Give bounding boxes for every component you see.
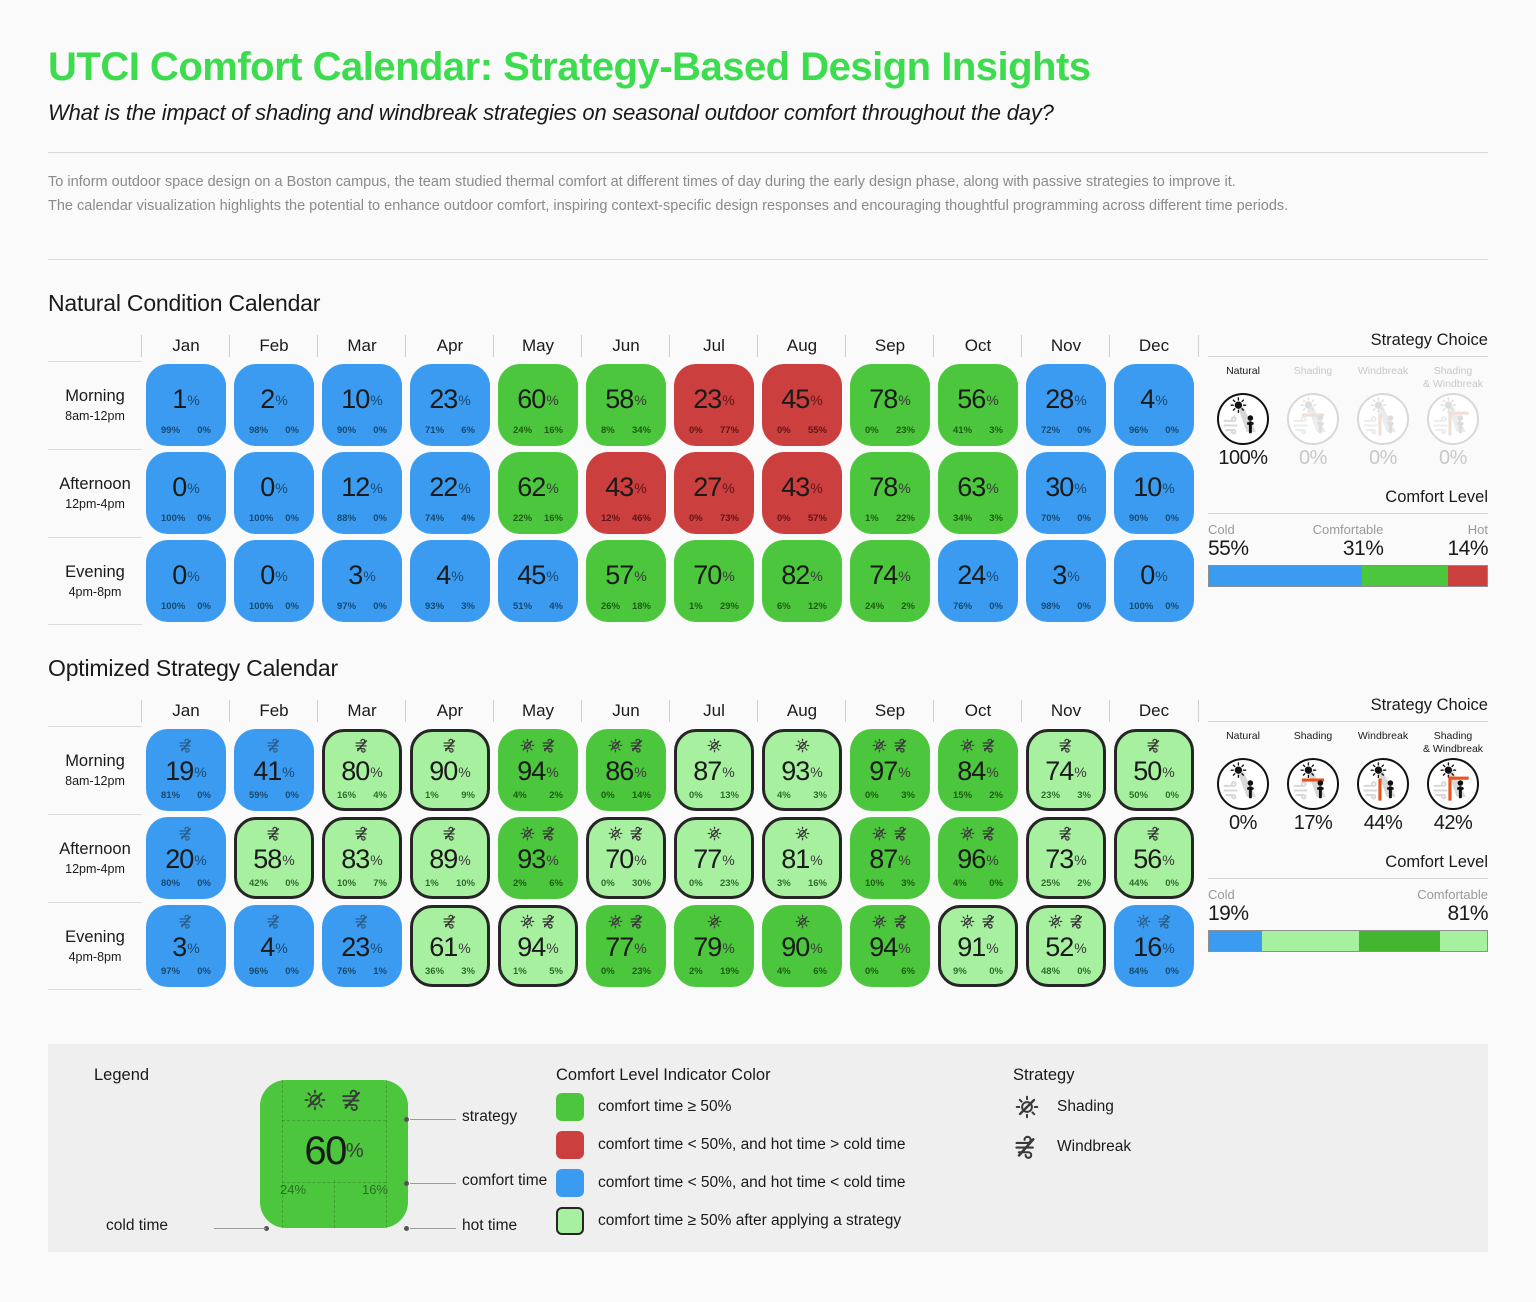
cell-cold-time: 2% [689, 966, 703, 977]
calendar-cell[interactable]: 94%0%6% [850, 905, 930, 987]
strategy-scene-icon [1289, 760, 1337, 808]
cell-hot-time: 16% [544, 425, 563, 436]
cell-percent-sign: % [898, 765, 910, 779]
cell-hot-time: 3% [1077, 790, 1091, 801]
page-title: UTCI Comfort Calendar: Strategy-Based De… [48, 0, 1488, 90]
comfort-bar-segment [1362, 566, 1448, 586]
calendar-cell[interactable]: 10%90%0% [1114, 452, 1194, 534]
calendar-cell[interactable]: 0%100%0% [146, 540, 226, 622]
windbreak-icon [266, 913, 283, 930]
calendar-cell[interactable]: 83%10%7% [322, 817, 402, 899]
cell-hot-time: 29% [720, 601, 739, 612]
comfort-segment-value: 31% [1313, 537, 1384, 561]
calendar-cell[interactable]: 23%71%6% [410, 364, 490, 446]
comfort-level-rule [1208, 513, 1488, 514]
comfort-level-values: Cold19%Comfortable81% [1208, 887, 1488, 926]
cell-percent-sign: % [370, 941, 382, 955]
shading-icon [706, 913, 723, 930]
calendar-cell[interactable]: 4%96%0% [234, 905, 314, 987]
calendar-row-evening: Evening4pm-8pm3%97%0%4%96%0%23%76%1%61%3… [48, 902, 1198, 990]
cell-strategy-icons [519, 913, 558, 930]
calendar-cell[interactable]: 0%100%0% [234, 452, 314, 534]
windbreak-icon [442, 825, 459, 842]
calendar-cell[interactable]: 3%97%0% [322, 540, 402, 622]
cell-strategy-icons [266, 825, 283, 842]
cell-comfort-value: 87% [693, 754, 735, 790]
calendar-cell[interactable]: 23%76%1% [322, 905, 402, 987]
cell-container: 94%1%5% [494, 902, 582, 990]
calendar-cell[interactable]: 57%26%18% [586, 540, 666, 622]
cell-comfort-value: 43% [781, 455, 823, 513]
comfort-segment-value: 55% [1208, 537, 1249, 561]
cell-footer: 25%2% [1029, 878, 1103, 896]
month-header-row: JanFebMarAprMayJunJulAugSepOctNovDec [48, 696, 1198, 726]
calendar-cell[interactable]: 23%0%77% [674, 364, 754, 446]
cell-cold-time: 100% [161, 513, 185, 524]
calendar-cell[interactable]: 82%6%12% [762, 540, 842, 622]
row-label-evening: Evening4pm-8pm [48, 537, 142, 625]
cell-strategy-icons [519, 737, 558, 754]
cell-footer: 80%0% [149, 878, 223, 896]
cell-container: 0%100%0% [142, 537, 230, 625]
calendar-cell[interactable]: 3%98%0% [1026, 540, 1106, 622]
calendar-cell[interactable]: 89%1%10% [410, 817, 490, 899]
cell-container: 52%48%0% [1022, 902, 1110, 990]
cell-percent-sign: % [1074, 393, 1086, 407]
cell-cold-time: 42% [249, 878, 268, 889]
cell-cold-time: 74% [425, 513, 444, 524]
calendar-cell[interactable]: 94%4%2% [498, 729, 578, 811]
calendar-cell[interactable]: 45%51%4% [498, 540, 578, 622]
cell-footer: 3%16% [765, 878, 839, 896]
cell-footer: 44%0% [1117, 878, 1191, 896]
strategy-option-icon [1217, 393, 1269, 445]
shading-icon [519, 825, 536, 842]
calendar-cell[interactable]: 93%2%6% [498, 817, 578, 899]
windbreak-icon [629, 825, 646, 842]
calendar-cell[interactable]: 16%84%0% [1114, 905, 1194, 987]
calendar-cell[interactable]: 45%0%55% [762, 364, 842, 446]
month-label-aug: Aug [758, 696, 846, 726]
calendar-cell[interactable]: 73%25%2% [1026, 817, 1106, 899]
calendar-cell[interactable]: 27%0%73% [674, 452, 754, 534]
cell-hot-time: 19% [720, 966, 739, 977]
cell-hot-time: 3% [813, 790, 827, 801]
calendar-cell[interactable]: 90%4%6% [762, 905, 842, 987]
cell-container: 77%0%23% [670, 814, 758, 902]
cell-cold-time: 0% [689, 790, 703, 801]
cell-cold-time: 1% [425, 878, 439, 889]
legend-strategy-heading: Strategy [1013, 1066, 1303, 1085]
cell-percent-sign: % [451, 569, 463, 583]
calendar-cell[interactable]: 84%15%2% [938, 729, 1018, 811]
calendar-panels: Natural Condition CalendarJanFebMarAprMa… [48, 290, 1488, 990]
calendar-cell[interactable]: 43%12%46% [586, 452, 666, 534]
cell-footer: 6%12% [765, 601, 839, 619]
legend-strategy-text: Windbreak [1057, 1138, 1131, 1156]
calendar-cell[interactable]: 74%23%3% [1026, 729, 1106, 811]
cell-hot-time: 0% [1165, 966, 1179, 977]
strategy-option-natural[interactable]: Natural100% [1208, 365, 1278, 470]
calendar-row-afternoon: Afternoon12pm-4pm0%100%0%0%100%0%12%88%0… [48, 449, 1198, 537]
calendar-cell[interactable]: 96%4%0% [938, 817, 1018, 899]
calendar-cell[interactable]: 2%98%0% [234, 364, 314, 446]
cell-comfort-value: 70% [693, 543, 735, 601]
cell-container: 70%0%30% [582, 814, 670, 902]
windbreak-icon [354, 737, 371, 754]
cell-hot-time: 0% [197, 513, 211, 524]
cell-hot-time: 23% [896, 425, 915, 436]
cell-strategy-icons [871, 825, 910, 842]
calendar-cell[interactable]: 50%50%0% [1114, 729, 1194, 811]
cell-comfort-value: 91% [957, 930, 999, 966]
cell-container: 90%1%9% [406, 726, 494, 814]
cell-cold-time: 96% [249, 966, 268, 977]
windbreak-icon [981, 737, 998, 754]
cell-comfort-value: 58% [253, 842, 295, 878]
calendar-cell[interactable]: 4%96%0% [1114, 364, 1194, 446]
calendar-cell[interactable]: 91%9%0% [938, 905, 1018, 987]
legend-sample-cell: 60% 24% 16% [260, 1080, 408, 1228]
cell-container: 3%97%0% [318, 537, 406, 625]
strategy-scene-icon [1219, 760, 1267, 808]
calendar-cell[interactable]: 10%90%0% [322, 364, 402, 446]
strategy-option-both[interactable]: Shading& Windbreak0% [1418, 365, 1488, 470]
cell-hot-time: 55% [808, 425, 827, 436]
strategy-option-windbreak[interactable]: Windbreak44% [1348, 730, 1418, 835]
cell-cold-time: 22% [513, 513, 532, 524]
row-cells: 3%97%0%4%96%0%23%76%1%61%36%3%94%1%5%77%… [142, 902, 1198, 990]
calendar-cell[interactable]: 78%0%23% [850, 364, 930, 446]
calendar-cell[interactable]: 61%36%3% [410, 905, 490, 987]
cell-container: 70%1%29% [670, 537, 758, 625]
calendar-section-optimized: Optimized Strategy CalendarJanFebMarAprM… [48, 655, 1488, 990]
legend-color-item: comfort time < 50%, and hot time > cold … [556, 1131, 1003, 1159]
calendar-side-panel: Strategy ChoiceNatural100%Shading0%Windb… [1198, 331, 1488, 587]
cell-cold-time: 41% [953, 425, 972, 436]
calendar-cell[interactable]: 80%16%4% [322, 729, 402, 811]
cell-footer: 98%0% [1029, 601, 1103, 619]
comfort-level-title: Comfort Level [1208, 853, 1488, 872]
shading-icon [871, 737, 888, 754]
calendar-cell[interactable]: 93%4%3% [762, 729, 842, 811]
cell-percent-sign: % [722, 481, 734, 495]
cell-hot-time: 3% [461, 966, 475, 977]
shading-icon [871, 825, 888, 842]
cell-cold-time: 4% [777, 966, 791, 977]
strategy-option-shading[interactable]: Shading17% [1278, 730, 1348, 835]
calendar-cell[interactable]: 86%0%14% [586, 729, 666, 811]
calendar-cell[interactable]: 78%1%22% [850, 452, 930, 534]
calendar-cell[interactable]: 62%22%16% [498, 452, 578, 534]
cell-container: 10%90%0% [318, 361, 406, 449]
cell-comfort-value: 3% [172, 930, 199, 966]
calendar-cell[interactable]: 70%1%29% [674, 540, 754, 622]
cell-footer: 76%1% [325, 966, 399, 984]
cell-cold-time: 100% [249, 513, 273, 524]
cell-footer: 0%77% [677, 425, 751, 443]
cell-percent-sign: % [1074, 853, 1086, 867]
calendar-cell[interactable]: 1%99%0% [146, 364, 226, 446]
strategy-option-both[interactable]: Shading& Windbreak42% [1418, 730, 1488, 835]
cell-hot-time: 0% [1077, 601, 1091, 612]
callout-comfort-time: comfort time [462, 1172, 547, 1190]
cell-percent-sign: % [898, 569, 910, 583]
calendar-cell[interactable]: 43%0%57% [762, 452, 842, 534]
windbreak-icon [893, 737, 910, 754]
cell-comfort-value: 24% [957, 543, 999, 601]
strategy-option-label: Natural [1208, 365, 1278, 391]
cell-hot-time: 10% [456, 878, 475, 889]
shading-icon [302, 1087, 328, 1113]
calendar-cell[interactable]: 30%70%0% [1026, 452, 1106, 534]
cell-hot-time: 34% [632, 425, 651, 436]
cell-container: 86%0%14% [582, 726, 670, 814]
calendar-cell[interactable]: 3%97%0% [146, 905, 226, 987]
calendar-cell[interactable]: 22%74%4% [410, 452, 490, 534]
calendar-row-evening: Evening4pm-8pm0%100%0%0%100%0%3%97%0%4%9… [48, 537, 1198, 625]
cell-strategy-icons [1058, 825, 1075, 842]
cell-cold-time: 97% [161, 966, 180, 977]
calendar-cell[interactable]: 87%10%3% [850, 817, 930, 899]
cell-hot-time: 4% [373, 790, 387, 801]
cell-strategy-icons [794, 913, 811, 930]
cell-comfort-value: 19% [165, 754, 207, 790]
cell-cold-time: 51% [513, 601, 532, 612]
comfort-segment-label: Hot [1447, 522, 1488, 537]
calendar-cell[interactable]: 24%76%0% [938, 540, 1018, 622]
intro-line-1: To inform outdoor space design on a Bost… [48, 171, 1488, 195]
row-label-morning: Morning8am-12pm [48, 726, 142, 814]
windbreak-icon [442, 913, 459, 930]
windbreak-icon [266, 825, 283, 842]
cell-cold-time: 76% [337, 966, 356, 977]
cell-hot-time: 0% [197, 601, 211, 612]
strategy-option-value: 0% [1278, 447, 1348, 470]
intro-line-2: The calendar visualization highlights th… [48, 195, 1488, 219]
cell-cold-time: 24% [513, 425, 532, 436]
cell-footer: 26%18% [589, 601, 663, 619]
comfort-segment-label: Cold [1208, 887, 1249, 902]
calendar-cell[interactable]: 74%24%2% [850, 540, 930, 622]
legend-color-item: comfort time < 50%, and hot time < cold … [556, 1169, 1003, 1197]
cell-footer: 59%0% [237, 790, 311, 808]
cell-cold-time: 84% [1129, 966, 1148, 977]
calendar-cell[interactable]: 20%80%0% [146, 817, 226, 899]
legend-color-column: Comfort Level Indicator Color comfort ti… [548, 1044, 1003, 1245]
cell-hot-time: 3% [989, 513, 1003, 524]
cell-footer: 10%3% [853, 878, 927, 896]
month-label-jul: Jul [670, 696, 758, 726]
callout-line-comfort [410, 1183, 456, 1184]
cell-cold-time: 1% [425, 790, 439, 801]
calendar-cell[interactable]: 56%41%3% [938, 364, 1018, 446]
cell-hot-time: 0% [197, 425, 211, 436]
cell-footer: 12%46% [589, 513, 663, 531]
comfort-segment-cold: Cold19% [1208, 887, 1249, 926]
windbreak-icon [541, 825, 558, 842]
comfort-segment-value: 14% [1447, 537, 1488, 561]
cell-comfort-value: 97% [869, 754, 911, 790]
calendar-cell[interactable]: 97%0%3% [850, 729, 930, 811]
cell-container: 56%44%0% [1110, 814, 1198, 902]
legend-color-text: comfort time ≥ 50% after applying a stra… [598, 1212, 901, 1230]
calendar-cell[interactable]: 58%8%34% [586, 364, 666, 446]
cell-percent-sign: % [986, 765, 998, 779]
comfort-level-rule [1208, 878, 1488, 879]
calendar-cell[interactable]: 0%100%0% [146, 452, 226, 534]
strategy-option-natural[interactable]: Natural0% [1208, 730, 1278, 835]
legend-sample-percent: % [346, 1140, 364, 1163]
calendar-cell[interactable]: 52%48%0% [1026, 905, 1106, 987]
cell-percent-sign: % [546, 393, 558, 407]
strategy-option-shading[interactable]: Shading0% [1278, 365, 1348, 470]
calendar-cell[interactable]: 87%0%13% [674, 729, 754, 811]
calendar-cell[interactable]: 81%3%16% [762, 817, 842, 899]
calendar-cell[interactable]: 4%93%3% [410, 540, 490, 622]
cell-container: 74%23%3% [1022, 726, 1110, 814]
cell-percent-sign: % [722, 941, 734, 955]
cell-container: 89%1%10% [406, 814, 494, 902]
cell-hot-time: 0% [1165, 425, 1179, 436]
comfort-segment-cold: Cold55% [1208, 522, 1249, 561]
cell-container: 28%72%0% [1022, 361, 1110, 449]
calendar-cell[interactable]: 12%88%0% [322, 452, 402, 534]
cell-comfort-value: 23% [693, 367, 735, 425]
strategy-option-label: Shading [1278, 365, 1348, 391]
cell-cold-time: 0% [865, 425, 879, 436]
cell-strategy-icons [959, 825, 998, 842]
month-label-jan: Jan [142, 696, 230, 726]
cell-comfort-value: 77% [605, 930, 647, 966]
strategy-option-icon [1287, 393, 1339, 445]
cell-cold-time: 98% [249, 425, 268, 436]
cell-hot-time: 3% [989, 425, 1003, 436]
calendar-cell[interactable]: 94%1%5% [498, 905, 578, 987]
cell-footer: 2%19% [677, 966, 751, 984]
cell-footer: 0%13% [677, 790, 751, 808]
shading-icon [607, 825, 624, 842]
cell-strategy-icons [1146, 825, 1163, 842]
cell-cold-time: 90% [337, 425, 356, 436]
cell-comfort-value: 23% [429, 367, 471, 425]
cell-hot-time: 0% [1165, 601, 1179, 612]
cell-footer: 22%16% [501, 513, 575, 531]
cell-percent-sign: % [194, 853, 206, 867]
strategy-option-icon [1217, 758, 1269, 810]
calendar-cell[interactable]: 28%72%0% [1026, 364, 1106, 446]
cell-comfort-value: 20% [165, 842, 207, 878]
cell-strategy-icons [706, 737, 723, 754]
row-label-name: Morning [65, 752, 125, 771]
cell-percent-sign: % [898, 481, 910, 495]
strategy-scene-icon [1429, 760, 1477, 808]
strategy-option-windbreak[interactable]: Windbreak0% [1348, 365, 1418, 470]
legend-color-heading: Comfort Level Indicator Color [556, 1066, 1003, 1085]
shading-icon [519, 913, 536, 930]
legend-sample-hot: 16% [362, 1182, 388, 1197]
calendar-cell[interactable]: 0%100%0% [234, 540, 314, 622]
cell-container: 58%42%0% [230, 814, 318, 902]
cell-hot-time: 0% [989, 601, 1003, 612]
cell-container: 50%50%0% [1110, 726, 1198, 814]
month-labels: JanFebMarAprMayJunJulAugSepOctNovDec [142, 331, 1198, 361]
cell-hot-time: 2% [549, 790, 563, 801]
month-labels: JanFebMarAprMayJunJulAugSepOctNovDec [142, 696, 1198, 726]
cell-comfort-value: 0% [172, 543, 199, 601]
calendar-cell[interactable]: 41%59%0% [234, 729, 314, 811]
cell-cold-time: 6% [777, 601, 791, 612]
cell-container: 63%34%3% [934, 449, 1022, 537]
calendar-cell[interactable]: 63%34%3% [938, 452, 1018, 534]
intro-text: To inform outdoor space design on a Bost… [48, 153, 1488, 233]
shading-icon [871, 913, 888, 930]
windbreak-icon [893, 913, 910, 930]
cell-footer: 51%4% [501, 601, 575, 619]
calendar-cell[interactable]: 90%1%9% [410, 729, 490, 811]
cell-strategy-icons [1135, 913, 1174, 930]
cell-cold-time: 100% [161, 601, 185, 612]
calendar-cell[interactable]: 79%2%19% [674, 905, 754, 987]
windbreak-icon [178, 825, 195, 842]
calendar-cell[interactable]: 70%0%30% [586, 817, 666, 899]
strategy-option-label: Windbreak [1348, 730, 1418, 756]
cell-container: 3%98%0% [1022, 537, 1110, 625]
row-label-name: Afternoon [59, 840, 131, 859]
cell-footer: 99%0% [149, 425, 223, 443]
cell-container: 24%76%0% [934, 537, 1022, 625]
section-title: Natural Condition Calendar [48, 290, 1488, 317]
calendar-cell[interactable]: 56%44%0% [1114, 817, 1194, 899]
row-label-name: Evening [65, 928, 125, 947]
cell-comfort-value: 0% [260, 543, 287, 601]
cell-percent-sign: % [722, 569, 734, 583]
cell-footer: 24%16% [501, 425, 575, 443]
cell-footer: 0%23% [677, 878, 751, 896]
cell-percent-sign: % [370, 481, 382, 495]
cell-footer: 74%4% [413, 513, 487, 531]
cell-percent-sign: % [275, 941, 287, 955]
cell-comfort-value: 0% [1140, 543, 1167, 601]
cell-percent-sign: % [1074, 941, 1086, 955]
cell-hot-time: 5% [549, 966, 563, 977]
cell-hot-time: 23% [632, 966, 651, 977]
calendar-cell[interactable]: 58%42%0% [234, 817, 314, 899]
calendar-cell[interactable]: 0%100%0% [1114, 540, 1194, 622]
cell-hot-time: 3% [461, 601, 475, 612]
shading-icon [959, 913, 976, 930]
cell-container: 0%100%0% [230, 537, 318, 625]
row-label-afternoon: Afternoon12pm-4pm [48, 449, 142, 537]
calendar-cell[interactable]: 60%24%16% [498, 364, 578, 446]
cell-container: 58%8%34% [582, 361, 670, 449]
cell-footer: 97%0% [325, 601, 399, 619]
cell-percent-sign: % [275, 481, 287, 495]
shading-icon [1135, 913, 1152, 930]
cell-container: 3%97%0% [142, 902, 230, 990]
calendar-cell[interactable]: 77%0%23% [586, 905, 666, 987]
cell-comfort-value: 90% [429, 754, 471, 790]
cell-container: 4%96%0% [1110, 361, 1198, 449]
cell-footer: 0%23% [589, 966, 663, 984]
calendar-cell[interactable]: 19%81%0% [146, 729, 226, 811]
strategy-choice-options: Natural100%Shading0%Windbreak0%Shading& … [1208, 365, 1488, 470]
windbreak-icon [629, 913, 646, 930]
cell-footer: 98%0% [237, 425, 311, 443]
cell-container: 83%10%7% [318, 814, 406, 902]
row-label-time: 8am-12pm [65, 774, 125, 788]
calendar-cell[interactable]: 77%0%23% [674, 817, 754, 899]
